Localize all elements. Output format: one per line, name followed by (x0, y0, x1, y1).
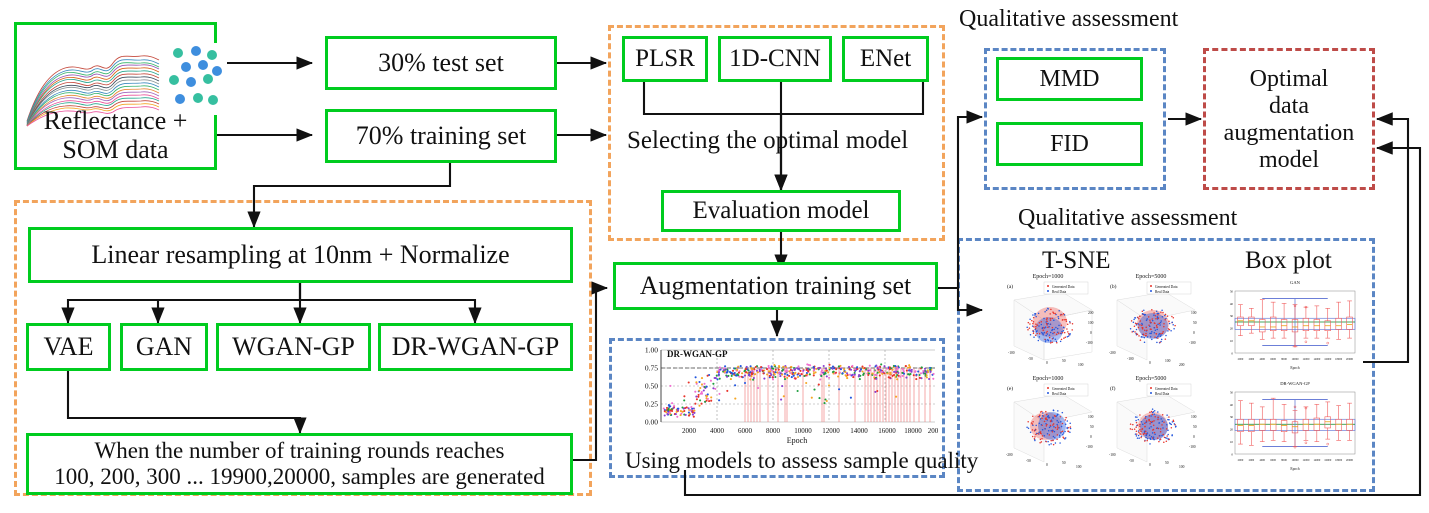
svg-text:10: 10 (1230, 440, 1234, 444)
svg-text:16000: 16000 (878, 427, 896, 435)
tsne-panel-b: Epoch=5000 (b) Generated Data Real Data … (1103, 270, 1201, 370)
svg-text:100: 100 (1076, 465, 1082, 469)
training-rounds-line-2: 100, 200, 300 ... 19900,20000, samples a… (54, 464, 545, 490)
svg-text:40: 40 (1230, 403, 1234, 407)
svg-text:12000: 12000 (1302, 358, 1310, 361)
svg-text:DR-WGAN-GP: DR-WGAN-GP (667, 349, 728, 359)
svg-text:30: 30 (1230, 415, 1234, 419)
svg-text:200: 200 (1088, 311, 1094, 315)
svg-text:12000: 12000 (1302, 459, 1310, 462)
svg-text:-50: -50 (1028, 357, 1033, 361)
svg-text:-50: -50 (1026, 459, 1031, 463)
mmd-box[interactable]: MMD (996, 57, 1143, 101)
svg-text:200: 200 (1179, 363, 1185, 367)
svg-text:-200: -200 (1006, 453, 1013, 457)
svg-text:-100: -100 (1008, 351, 1015, 355)
svg-text:Epoch=1000: Epoch=1000 (1033, 274, 1064, 280)
selecting-optimal-model-label: Selecting the optimal model (627, 127, 908, 155)
svg-text:16000: 16000 (1324, 459, 1332, 462)
svg-text:50: 50 (1193, 321, 1197, 325)
svg-text:6000: 6000 (1270, 358, 1276, 361)
svg-text:20000: 20000 (1346, 459, 1354, 462)
svg-text:0.00: 0.00 (645, 418, 658, 427)
svg-text:8000: 8000 (1281, 358, 1287, 361)
svg-text:18000: 18000 (904, 427, 922, 435)
svg-text:-100: -100 (1086, 341, 1093, 345)
svg-text:0.50: 0.50 (645, 382, 658, 391)
gan-label: GAN (136, 332, 192, 361)
training-set-label: 70% training set (356, 121, 526, 150)
tsne-b-svg: Epoch=5000 (b) Generated Data Real Data … (1103, 270, 1201, 370)
tsne-panel-a: Epoch=1000 (a) Generated Data Real Data … (1000, 270, 1098, 370)
svg-text:Real Data: Real Data (1155, 290, 1170, 294)
training-rounds-line-1: When the number of training rounds reach… (94, 438, 504, 464)
svg-text:Epoch: Epoch (1290, 366, 1299, 370)
boxplot-drwgangp-svg: DR-WGAN-GP010203040502000200040006000800… (1215, 378, 1363, 476)
svg-text:Real Data: Real Data (1052, 290, 1067, 294)
svg-text:4000: 4000 (710, 427, 725, 435)
svg-text:-100: -100 (1189, 341, 1196, 345)
svg-text:Real Data: Real Data (1155, 392, 1170, 396)
cnn-1d-box[interactable]: 1D-CNN (718, 36, 832, 82)
svg-text:100: 100 (1165, 359, 1171, 363)
boxplot-gan-svg: GAN0102030405020002000400060008000100001… (1215, 277, 1363, 375)
svg-text:2000: 2000 (682, 427, 697, 435)
svg-text:Generated Data: Generated Data (1155, 387, 1178, 391)
svg-text:2000: 2000 (1249, 358, 1255, 361)
svg-text:Generated Data: Generated Data (1052, 387, 1075, 391)
svg-text:0: 0 (1046, 361, 1048, 365)
fid-box[interactable]: FID (996, 122, 1143, 166)
data-source-box[interactable]: Reflectance + SOM data (14, 22, 217, 170)
fid-label: FID (1050, 131, 1089, 158)
svg-text:0: 0 (1149, 361, 1151, 365)
svg-text:20: 20 (1230, 327, 1234, 331)
dr-wgan-gp-box[interactable]: DR-WGAN-GP (378, 323, 573, 371)
svg-text:0: 0 (1090, 435, 1092, 439)
som-scatter-figure (165, 43, 227, 115)
tsne-panel-f: Epoch=5000 (f) Generated Data Real Data … (1103, 372, 1201, 472)
svg-text:10: 10 (1230, 339, 1234, 343)
training-set-box[interactable]: 70% training set (325, 109, 557, 163)
svg-text:14000: 14000 (1313, 358, 1321, 361)
svg-text:18000: 18000 (1335, 459, 1343, 462)
svg-text:2000: 2000 (1238, 358, 1244, 361)
svg-text:50: 50 (1230, 289, 1234, 293)
svg-text:(b): (b) (1110, 283, 1117, 290)
svg-text:Generated Data: Generated Data (1052, 285, 1075, 289)
svg-text:6000: 6000 (738, 427, 753, 435)
svg-text:Generated Data: Generated Data (1155, 285, 1178, 289)
svg-text:14000: 14000 (850, 427, 868, 435)
svg-text:100: 100 (1191, 415, 1197, 419)
svg-text:10000: 10000 (1292, 459, 1300, 462)
svg-text:Real Data: Real Data (1052, 392, 1067, 396)
svg-text:-200: -200 (1109, 351, 1116, 355)
svg-text:0: 0 (1231, 351, 1233, 355)
optimal-model-line-3: augmentation (1224, 120, 1355, 147)
boxplot-section-label: Box plot (1245, 247, 1332, 275)
svg-text:50: 50 (1165, 461, 1169, 465)
svg-text:Epoch=1000: Epoch=1000 (1033, 376, 1064, 382)
svg-text:(f): (f) (1110, 385, 1116, 392)
svg-text:8000: 8000 (766, 427, 781, 435)
test-set-label: 30% test set (378, 48, 504, 77)
augmentation-training-set-box[interactable]: Augmentation training set (613, 262, 938, 310)
boxplot-drwgangp-figure: DR-WGAN-GP010203040502000200040006000800… (1215, 378, 1363, 476)
svg-text:14000: 14000 (1313, 459, 1321, 462)
vae-box[interactable]: VAE (26, 323, 111, 371)
svg-text:0: 0 (1193, 331, 1195, 335)
svg-text:Epoch=5000: Epoch=5000 (1136, 274, 1167, 280)
svg-text:(e): (e) (1007, 385, 1013, 392)
svg-text:100: 100 (1088, 415, 1094, 419)
quality-scatter-svg: 1.00 0.75 0.50 0.25 0.00 2000 4000 6000 … (617, 344, 941, 448)
evaluation-model-box[interactable]: Evaluation model (661, 190, 901, 232)
svg-text:50: 50 (1090, 425, 1094, 429)
plsr-label: PLSR (635, 45, 695, 73)
svg-text:0: 0 (1193, 435, 1195, 439)
svg-text:18000: 18000 (1335, 358, 1343, 361)
svg-text:50: 50 (1193, 425, 1197, 429)
augmentation-training-set-label: Augmentation training set (640, 271, 912, 300)
svg-text:100: 100 (1078, 363, 1084, 367)
svg-text:4000: 4000 (1259, 459, 1265, 462)
svg-text:16000: 16000 (1324, 358, 1332, 361)
optimal-model-text: Optimal data augmentation model (1203, 52, 1375, 188)
svg-text:2000: 2000 (1238, 459, 1244, 462)
svg-text:DR-WGAN-GP: DR-WGAN-GP (1280, 381, 1310, 386)
svg-text:40: 40 (1230, 302, 1234, 306)
qualitative-assessment-bottom-label: Qualitative assessment (1018, 205, 1237, 232)
qualitative-assessment-top-label: Qualitative assessment (959, 6, 1178, 33)
svg-text:20: 20 (1230, 428, 1234, 432)
svg-text:200: 200 (928, 427, 939, 435)
dr-wgan-gp-label: DR-WGAN-GP (392, 332, 560, 361)
svg-text:20000: 20000 (1346, 358, 1354, 361)
svg-text:0: 0 (1090, 331, 1092, 335)
svg-text:1.00: 1.00 (645, 346, 658, 355)
svg-text:0: 0 (1231, 452, 1233, 456)
svg-text:GAN: GAN (1290, 280, 1301, 285)
svg-text:50: 50 (1062, 359, 1066, 363)
svg-text:-100: -100 (1189, 445, 1196, 449)
cnn-1d-label: 1D-CNN (729, 45, 821, 73)
optimal-model-line-4: model (1259, 147, 1319, 174)
svg-text:100: 100 (1179, 465, 1185, 469)
svg-text:50: 50 (1230, 390, 1234, 394)
evaluation-model-label: Evaluation model (692, 197, 869, 225)
svg-text:30: 30 (1230, 314, 1234, 318)
svg-text:50: 50 (1062, 461, 1066, 465)
boxplot-gan-figure: GAN0102030405020002000400060008000100001… (1215, 277, 1363, 375)
svg-text:12000: 12000 (822, 427, 840, 435)
tsne-e-svg: Epoch=1000 (e) Generated Data Real Data … (1000, 372, 1098, 472)
test-set-box[interactable]: 30% test set (325, 36, 557, 90)
mmd-label: MMD (1039, 66, 1099, 93)
svg-text:(a): (a) (1007, 283, 1013, 290)
svg-text:0: 0 (1149, 463, 1151, 467)
svg-text:-100: -100 (1086, 445, 1093, 449)
som-scatter-svg (165, 43, 227, 115)
svg-text:6000: 6000 (1270, 459, 1276, 462)
data-source-label: Reflectance + SOM data (17, 106, 214, 164)
svg-text:2000: 2000 (1249, 459, 1255, 462)
svg-text:0.75: 0.75 (645, 364, 658, 373)
svg-text:-100: -100 (1127, 357, 1134, 361)
quality-scatter-figure: 1.00 0.75 0.50 0.25 0.00 2000 4000 6000 … (617, 344, 941, 448)
vae-label: VAE (43, 332, 93, 361)
wgan-gp-box[interactable]: WGAN-GP (216, 323, 371, 371)
svg-text:-50: -50 (1129, 459, 1134, 463)
svg-text:Epoch: Epoch (787, 436, 807, 445)
svg-text:10000: 10000 (1292, 358, 1300, 361)
wgan-gp-label: WGAN-GP (232, 332, 355, 361)
assess-sample-quality-caption: Using models to assess sample quality (625, 448, 978, 474)
svg-text:10000: 10000 (794, 427, 812, 435)
enet-box[interactable]: ENet (842, 36, 929, 82)
training-rounds-box[interactable]: When the number of training rounds reach… (26, 433, 573, 495)
svg-text:100: 100 (1088, 321, 1094, 325)
resampling-box[interactable]: Linear resampling at 10nm + Normalize (28, 227, 573, 283)
tsne-panel-e: Epoch=1000 (e) Generated Data Real Data … (1000, 372, 1098, 472)
svg-text:0: 0 (1046, 463, 1048, 467)
svg-text:4000: 4000 (1259, 358, 1265, 361)
plsr-box[interactable]: PLSR (622, 36, 708, 82)
flowchart-canvas: Reflectance + SOM data 30% test set 70% … (0, 0, 1429, 513)
tsne-a-svg: Epoch=1000 (a) Generated Data Real Data … (1000, 270, 1098, 370)
resampling-label: Linear resampling at 10nm + Normalize (91, 240, 509, 269)
svg-text:0.25: 0.25 (645, 400, 658, 409)
optimal-model-line-1: Optimal (1250, 66, 1329, 93)
svg-text:100: 100 (1191, 311, 1197, 315)
svg-text:Epoch: Epoch (1290, 467, 1299, 471)
gan-box[interactable]: GAN (120, 323, 208, 371)
svg-text:8000: 8000 (1281, 459, 1287, 462)
enet-label: ENet (860, 45, 911, 73)
optimal-model-line-2: data (1269, 93, 1309, 120)
tsne-f-svg: Epoch=5000 (f) Generated Data Real Data … (1103, 372, 1201, 472)
svg-text:Epoch=5000: Epoch=5000 (1136, 376, 1167, 382)
svg-text:-100: -100 (1109, 453, 1116, 457)
